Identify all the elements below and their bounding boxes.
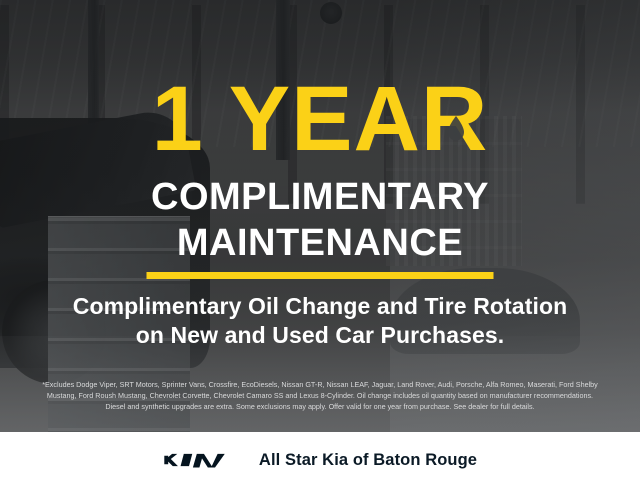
headline-maintenance: MAINTENANCE	[0, 224, 640, 262]
hero-content: 1 YEAR COMPLIMENTARY MAINTENANCE Complim…	[0, 0, 640, 432]
yellow-divider-bar	[147, 272, 494, 279]
kia-logo[interactable]	[163, 449, 241, 471]
footer-bar: All Star Kia of Baton Rouge	[0, 432, 640, 488]
disclaimer-line-2: Mustang, Ford Roush Mustang, Chevrolet C…	[14, 390, 626, 401]
disclaimer-line-3: Diesel and synthetic upgrades are extra.…	[14, 401, 626, 412]
promotional-ad-banner: 1 YEAR COMPLIMENTARY MAINTENANCE Complim…	[0, 0, 640, 488]
headline-complimentary: COMPLIMENTARY	[0, 178, 640, 216]
hero-section: 1 YEAR COMPLIMENTARY MAINTENANCE Complim…	[0, 0, 640, 432]
headline-year: 1 YEAR	[0, 76, 640, 181]
dealer-name: All Star Kia of Baton Rouge	[259, 451, 477, 470]
headline-year-artwork: 1 YEAR	[125, 76, 515, 168]
subheadline-line-2: on New and Used Car Purchases.	[0, 321, 640, 350]
footer-brand-group: All Star Kia of Baton Rouge	[163, 449, 477, 471]
disclaimer-line-1: *Excludes Dodge Viper, SRT Motors, Sprin…	[14, 379, 626, 390]
subheadline-line-1: Complimentary Oil Change and Tire Rotati…	[0, 292, 640, 321]
subheadline: Complimentary Oil Change and Tire Rotati…	[0, 292, 640, 350]
headline-year-text: 1 YEAR	[152, 76, 489, 168]
disclaimer-text: *Excludes Dodge Viper, SRT Motors, Sprin…	[14, 379, 626, 412]
